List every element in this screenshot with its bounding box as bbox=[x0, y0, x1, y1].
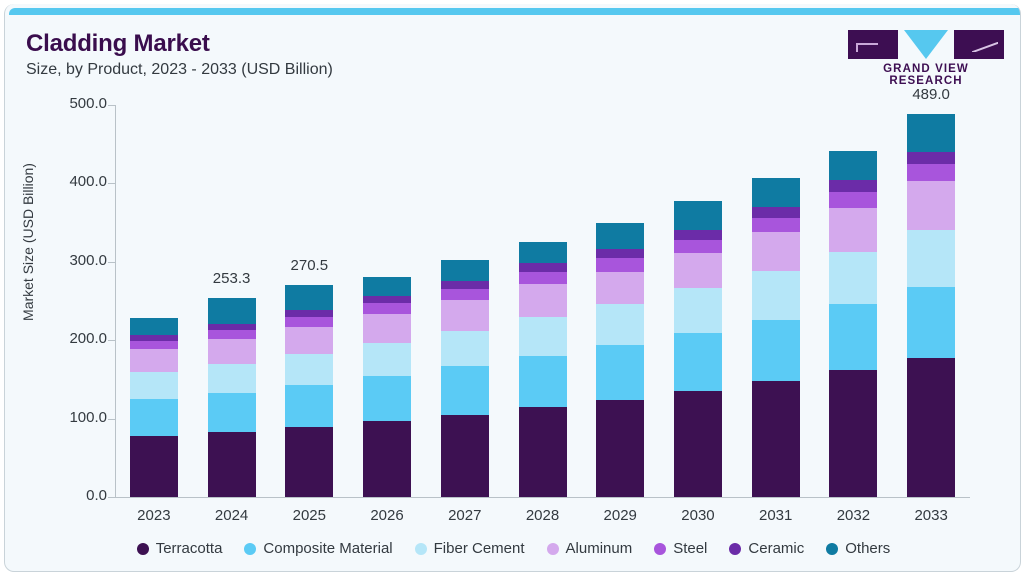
bar-segment[interactable] bbox=[519, 272, 567, 284]
bar-stack[interactable] bbox=[519, 242, 567, 497]
x-axis-tick-label: 2029 bbox=[575, 507, 665, 524]
bar-segment[interactable] bbox=[519, 263, 567, 271]
y-axis-tick-label: 400.0 bbox=[47, 173, 107, 190]
y-axis-tick-mark bbox=[108, 183, 115, 184]
bar-segment[interactable] bbox=[596, 249, 644, 258]
bar-segment[interactable] bbox=[363, 296, 411, 303]
chart-plot-area: Market Size (USD Billion) 0.0100.0200.03… bbox=[5, 4, 1021, 572]
bar-segment[interactable] bbox=[208, 364, 256, 393]
bar-segment[interactable] bbox=[363, 277, 411, 297]
bar-segment[interactable] bbox=[752, 232, 800, 271]
y-axis-tick-label: 200.0 bbox=[47, 330, 107, 347]
chart-card: Cladding Market Size, by Product, 2023 -… bbox=[4, 4, 1021, 572]
bar-segment[interactable] bbox=[130, 341, 178, 349]
bar-segment[interactable] bbox=[829, 192, 877, 208]
legend-color-swatch-icon bbox=[654, 543, 666, 555]
bar-segment[interactable] bbox=[829, 370, 877, 497]
y-axis-ticks: 0.0100.0200.0300.0400.0500.0 bbox=[45, 4, 107, 572]
bar-stack[interactable] bbox=[907, 114, 955, 497]
legend-item[interactable]: Composite Material bbox=[244, 540, 392, 557]
bar-segment[interactable] bbox=[519, 242, 567, 263]
bar-segment[interactable] bbox=[130, 436, 178, 497]
bar-segment[interactable] bbox=[829, 304, 877, 370]
bar-segment[interactable] bbox=[829, 252, 877, 305]
legend-label: Steel bbox=[673, 540, 707, 557]
bar-segment[interactable] bbox=[752, 271, 800, 320]
bar-segment[interactable] bbox=[674, 253, 722, 288]
bar-segment[interactable] bbox=[285, 354, 333, 385]
bar-segment[interactable] bbox=[363, 314, 411, 343]
bar-stack[interactable] bbox=[130, 318, 178, 497]
bar-stack[interactable] bbox=[285, 285, 333, 497]
bar-segment[interactable] bbox=[285, 317, 333, 327]
bar-value-label: 253.3 bbox=[187, 270, 277, 287]
legend-label: Terracotta bbox=[156, 540, 223, 557]
bar-segment[interactable] bbox=[441, 331, 489, 367]
bar-segment[interactable] bbox=[674, 240, 722, 254]
legend-color-swatch-icon bbox=[826, 543, 838, 555]
bar-stack[interactable] bbox=[752, 178, 800, 497]
bar-segment[interactable] bbox=[907, 181, 955, 230]
bar-segment[interactable] bbox=[519, 356, 567, 407]
bar-segment[interactable] bbox=[596, 258, 644, 271]
bar-segment[interactable] bbox=[752, 207, 800, 218]
bar-segment[interactable] bbox=[596, 223, 644, 250]
legend-label: Others bbox=[845, 540, 890, 557]
bar-segment[interactable] bbox=[907, 287, 955, 358]
x-axis-line bbox=[115, 497, 970, 498]
y-axis-tick-label: 100.0 bbox=[47, 409, 107, 426]
legend-item[interactable]: Others bbox=[826, 540, 890, 557]
bar-segment[interactable] bbox=[829, 208, 877, 252]
chart-legend: TerracottaComposite MaterialFiber Cement… bbox=[5, 540, 1021, 557]
bar-segment[interactable] bbox=[441, 289, 489, 300]
bar-segment[interactable] bbox=[441, 281, 489, 288]
y-axis-tick-mark bbox=[108, 340, 115, 341]
x-axis-tick-label: 2025 bbox=[264, 507, 354, 524]
bar-segment[interactable] bbox=[907, 230, 955, 286]
x-axis-tick-label: 2027 bbox=[420, 507, 510, 524]
bar-stack[interactable] bbox=[596, 223, 644, 497]
bar-segment[interactable] bbox=[363, 343, 411, 376]
bar-segment[interactable] bbox=[752, 320, 800, 381]
bar-segment[interactable] bbox=[208, 330, 256, 339]
legend-item[interactable]: Ceramic bbox=[729, 540, 804, 557]
x-axis-tick-label: 2023 bbox=[109, 507, 199, 524]
bar-segment[interactable] bbox=[596, 272, 644, 305]
bar-segment[interactable] bbox=[519, 317, 567, 356]
bar-segment[interactable] bbox=[829, 151, 877, 180]
legend-color-swatch-icon bbox=[729, 543, 741, 555]
legend-item[interactable]: Steel bbox=[654, 540, 707, 557]
bar-segment[interactable] bbox=[363, 303, 411, 314]
bar-segment[interactable] bbox=[907, 358, 955, 497]
bar-segment[interactable] bbox=[907, 164, 955, 181]
bar-segment[interactable] bbox=[285, 285, 333, 310]
bar-segment[interactable] bbox=[674, 391, 722, 497]
bar-segment[interactable] bbox=[674, 288, 722, 333]
bar-segment[interactable] bbox=[441, 415, 489, 497]
bar-segment[interactable] bbox=[130, 349, 178, 372]
bar-segment[interactable] bbox=[674, 333, 722, 391]
legend-color-swatch-icon bbox=[415, 543, 427, 555]
bar-segment[interactable] bbox=[829, 180, 877, 191]
bar-segment[interactable] bbox=[363, 376, 411, 421]
bar-segment[interactable] bbox=[285, 310, 333, 317]
legend-color-swatch-icon bbox=[137, 543, 149, 555]
x-axis-tick-label: 2033 bbox=[886, 507, 976, 524]
bar-series-container bbox=[115, 105, 970, 497]
bar-segment[interactable] bbox=[208, 432, 256, 497]
x-axis-tick-label: 2031 bbox=[731, 507, 821, 524]
y-axis-tick-mark bbox=[108, 419, 115, 420]
bar-value-label: 270.5 bbox=[264, 257, 354, 274]
bar-segment[interactable] bbox=[208, 298, 256, 323]
legend-color-swatch-icon bbox=[547, 543, 559, 555]
bar-segment[interactable] bbox=[285, 427, 333, 497]
bar-segment[interactable] bbox=[208, 339, 256, 364]
y-axis-tick-mark bbox=[108, 105, 115, 106]
bar-segment[interactable] bbox=[441, 260, 489, 281]
bar-segment[interactable] bbox=[285, 385, 333, 427]
x-axis-tick-label: 2032 bbox=[808, 507, 898, 524]
legend-item[interactable]: Aluminum bbox=[547, 540, 633, 557]
bar-segment[interactable] bbox=[441, 366, 489, 415]
bar-segment[interactable] bbox=[596, 345, 644, 400]
bar-segment[interactable] bbox=[674, 201, 722, 229]
x-axis-tick-label: 2026 bbox=[342, 507, 432, 524]
bar-segment[interactable] bbox=[752, 218, 800, 233]
bar-stack[interactable] bbox=[829, 151, 877, 497]
legend-label: Fiber Cement bbox=[434, 540, 525, 557]
legend-color-swatch-icon bbox=[244, 543, 256, 555]
bar-segment[interactable] bbox=[285, 327, 333, 354]
x-axis-tick-label: 2028 bbox=[498, 507, 588, 524]
legend-label: Composite Material bbox=[263, 540, 392, 557]
bar-segment[interactable] bbox=[363, 421, 411, 497]
bar-stack[interactable] bbox=[441, 260, 489, 497]
y-axis-tick-label: 500.0 bbox=[47, 95, 107, 112]
legend-label: Aluminum bbox=[566, 540, 633, 557]
y-axis-title: Market Size (USD Billion) bbox=[20, 77, 36, 407]
bar-segment[interactable] bbox=[130, 318, 178, 336]
bar-segment[interactable] bbox=[130, 372, 178, 399]
bar-segment[interactable] bbox=[907, 152, 955, 164]
bar-stack[interactable] bbox=[674, 201, 722, 497]
bar-segment[interactable] bbox=[596, 400, 644, 497]
bar-segment[interactable] bbox=[752, 178, 800, 207]
bar-segment[interactable] bbox=[519, 407, 567, 497]
x-axis-tick-label: 2024 bbox=[187, 507, 277, 524]
legend-item[interactable]: Fiber Cement bbox=[415, 540, 525, 557]
bar-value-label: 489.0 bbox=[886, 86, 976, 103]
y-axis-tick-mark bbox=[108, 262, 115, 263]
bar-segment[interactable] bbox=[596, 304, 644, 344]
legend-item[interactable]: Terracotta bbox=[137, 540, 223, 557]
bar-stack[interactable] bbox=[363, 277, 411, 497]
bar-segment[interactable] bbox=[674, 230, 722, 240]
y-axis-tick-label: 0.0 bbox=[47, 487, 107, 504]
bar-segment[interactable] bbox=[907, 114, 955, 152]
bar-stack[interactable] bbox=[208, 298, 256, 497]
bar-segment[interactable] bbox=[208, 393, 256, 432]
x-axis-tick-label: 2030 bbox=[653, 507, 743, 524]
bar-segment[interactable] bbox=[752, 381, 800, 497]
y-axis-tick-label: 300.0 bbox=[47, 252, 107, 269]
bar-segment[interactable] bbox=[130, 399, 178, 436]
legend-label: Ceramic bbox=[748, 540, 804, 557]
bar-segment[interactable] bbox=[441, 300, 489, 331]
y-axis-tick-mark bbox=[108, 497, 115, 498]
bar-segment[interactable] bbox=[519, 284, 567, 317]
